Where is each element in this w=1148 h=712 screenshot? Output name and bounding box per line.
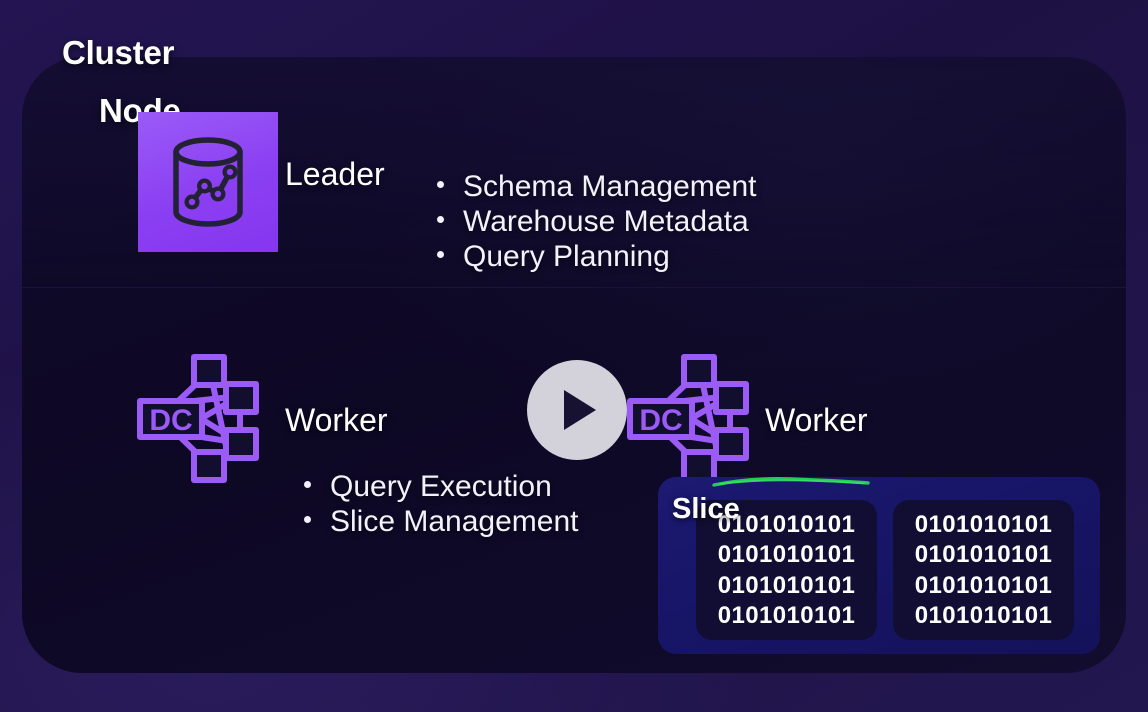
list-item: Warehouse Metadata bbox=[437, 205, 757, 240]
binary-row: 0101010101 bbox=[915, 571, 1052, 600]
bullet-dot-icon bbox=[437, 216, 444, 223]
list-item-label: Query Planning bbox=[463, 240, 670, 275]
list-item-label: Schema Management bbox=[463, 170, 757, 205]
worker-bullet-list-left: Query Execution Slice Management bbox=[304, 470, 578, 540]
database-analytics-icon bbox=[138, 112, 278, 252]
play-button[interactable] bbox=[527, 360, 627, 460]
data-node-network-icon: DC bbox=[618, 348, 758, 488]
binary-row: 0101010101 bbox=[915, 540, 1052, 569]
binary-row: 0101010101 bbox=[718, 540, 855, 569]
leader-bullet-list: Schema Management Warehouse Metadata Que… bbox=[437, 170, 757, 274]
bullet-dot-icon bbox=[304, 516, 311, 523]
svg-text:DC: DC bbox=[149, 404, 192, 437]
binary-row: 0101010101 bbox=[718, 601, 855, 630]
play-icon bbox=[560, 388, 600, 432]
leader-role-label: Leader bbox=[285, 156, 385, 193]
list-item: Query Execution bbox=[304, 470, 578, 505]
binary-row: 0101010101 bbox=[915, 601, 1052, 630]
svg-text:DC: DC bbox=[639, 404, 682, 437]
slice-label: Slice bbox=[672, 493, 740, 526]
list-item-label: Query Execution bbox=[330, 470, 552, 505]
list-item: Slice Management bbox=[304, 505, 578, 540]
binary-row: 0101010101 bbox=[915, 510, 1052, 539]
cluster-label: Cluster bbox=[62, 34, 174, 72]
worker-role-label-left: Worker bbox=[285, 402, 388, 439]
list-item: Schema Management bbox=[437, 170, 757, 205]
list-item-label: Warehouse Metadata bbox=[463, 205, 749, 240]
list-item: Query Planning bbox=[437, 240, 757, 275]
bullet-dot-icon bbox=[437, 251, 444, 258]
list-item-label: Slice Management bbox=[330, 505, 578, 540]
slide-canvas: Cluster Node Leader bbox=[0, 0, 1148, 712]
bullet-dot-icon bbox=[437, 181, 444, 188]
worker-role-label-right: Worker bbox=[765, 402, 868, 439]
bullet-dot-icon bbox=[304, 481, 311, 488]
binary-row: 0101010101 bbox=[718, 571, 855, 600]
slice-binary-block: 0101010101 0101010101 0101010101 0101010… bbox=[893, 500, 1074, 640]
data-node-network-icon: DC bbox=[128, 348, 268, 488]
